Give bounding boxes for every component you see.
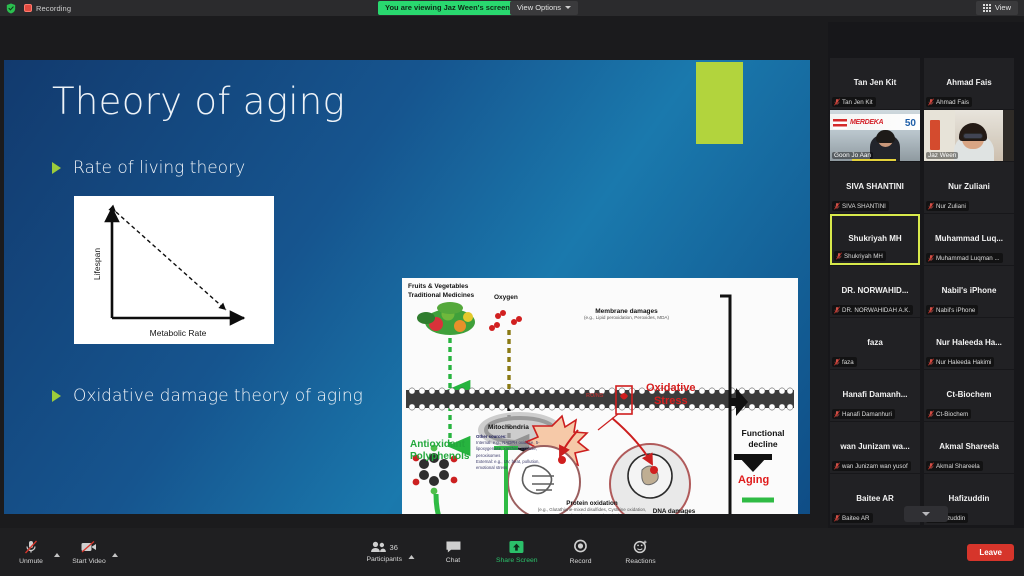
toolbar-left-group: Unmute Start Video [10, 539, 118, 565]
participant-badge-name: faza [842, 359, 854, 366]
antioxidant-line-1: Antioxidant [410, 439, 465, 450]
membrane-title: Membrane damages [595, 308, 658, 315]
fruits-line-2: Traditional Medicines [408, 292, 474, 299]
start-video-button[interactable]: Start Video [68, 539, 110, 565]
view-options-label: View Options [517, 3, 561, 12]
participant-name-badge: Ct-Biochem [926, 409, 971, 419]
room-background-right [1003, 110, 1014, 161]
functional-decline-line-2: decline [748, 439, 777, 449]
figure-label-mitochondria: Mitochondria [488, 424, 529, 431]
person-hair [876, 130, 895, 143]
participant-badge-name: wan Junizam wan yusof [842, 463, 908, 470]
video-overlay-banner: MERDEKA50 [830, 114, 920, 130]
start-video-group[interactable]: Start Video [68, 539, 118, 565]
microphone-muted-icon [834, 462, 840, 470]
participant-display-name: Akmal Shareela [924, 442, 1014, 451]
participant-name-badge: Muhammad Luqman ... [926, 253, 1003, 263]
participant-badge-name: Nur Zuliani [936, 203, 966, 210]
participant-tile[interactable]: Muhammad Luq...Muhammad Luqman ... [924, 214, 1014, 265]
panel-scroll-down-button[interactable] [904, 506, 948, 522]
figure-label-dna-damages: DNA damages (e.g., oxidation of nucleic … [614, 508, 734, 514]
presentation-slide: Theory of aging Rate of living theory [4, 60, 810, 514]
banner-text: MERDEKA [850, 119, 883, 126]
chat-label: Chat [446, 557, 460, 564]
recording-indicator[interactable]: Recording [24, 4, 71, 13]
share-screen-label: Share Screen [496, 557, 538, 564]
other-sources-internal: Internal: e.g., NADPH oxidase, 5-lipoxyg… [476, 440, 540, 457]
participant-display-name: Hanafi Damanh... [830, 390, 920, 399]
participant-tile[interactable]: wan Junizam wa...wan Junizam wan yusof [830, 422, 920, 473]
participant-name-badge: Akmal Shareela [926, 461, 983, 471]
participant-display-name: wan Junizam wa... [830, 442, 920, 451]
room-object [930, 120, 940, 150]
other-sources-title: Other sources: [476, 434, 507, 439]
toolbar-center-group: 36 Participants Chat Share Screen [362, 539, 661, 565]
reactions-icon [633, 539, 649, 555]
microphone-muted-icon [834, 514, 840, 522]
unmute-group[interactable]: Unmute [10, 539, 60, 565]
slide-title: Theory of aging [52, 80, 345, 123]
microphone-muted-icon [834, 98, 840, 106]
participant-display-name: Nur Haleeda Ha... [924, 338, 1014, 347]
participants-label: Participants [366, 556, 402, 563]
microphone-muted-icon [928, 306, 934, 314]
participant-tile[interactable]: fazafaza [830, 318, 920, 369]
record-icon [573, 539, 589, 555]
participant-badge-name: Tan Jen Kit [842, 99, 873, 106]
figure-label-oxidative-stress: Oxidative Stress [646, 382, 696, 407]
participant-name-badge: Nur Haleeda Hakimi [926, 357, 994, 367]
slide-bullet-1-text: Rate of living theory [73, 158, 245, 178]
participant-badge-name: Ahmad Fais [936, 99, 969, 106]
participant-video-feed: Jaz Ween [924, 110, 1014, 161]
antioxidant-line-2: Polyphenols [410, 451, 469, 462]
participant-display-name: Tan Jen Kit [830, 78, 920, 87]
zoom-meeting-window: Recording You are viewing Jaz Ween's scr… [0, 0, 1024, 576]
participant-display-name: SIVA SHANTINI [830, 182, 920, 191]
meeting-toolbar: Unmute Start Video [0, 528, 1024, 576]
participant-name-badge: DR. NORWAHIDAH A.K. [832, 305, 913, 315]
figure-label-antioxidant-polyphenols: Antioxidant Polyphenols [410, 439, 469, 463]
microphone-muted-icon [928, 98, 934, 106]
view-button[interactable]: View [976, 1, 1018, 15]
participant-badge-name: Hanafi Damanhuri [842, 411, 892, 418]
dna-dam-title: DNA damages [653, 508, 695, 514]
microphone-muted-icon [836, 252, 842, 260]
participant-tile[interactable]: DR. NORWAHID...DR. NORWAHIDAH A.K. [830, 266, 920, 317]
participant-badge-name: Shukriyah MH [844, 253, 883, 260]
participant-tile[interactable]: Akmal ShareelaAkmal Shareela [924, 422, 1014, 473]
participant-tile[interactable]: Nabil's iPhoneNabil's iPhone [924, 266, 1014, 317]
person-glasses [963, 133, 983, 139]
chart-svg: Lifespan Metabolic Rate [74, 196, 274, 344]
participants-button[interactable]: 36 Participants [362, 541, 406, 563]
active-speaker-strip [852, 159, 896, 161]
triangle-bullet-icon [52, 390, 61, 402]
audio-options-caret-icon[interactable] [54, 553, 60, 557]
participant-display-name: Nur Zuliani [924, 182, 1014, 191]
chevron-down-icon [565, 6, 571, 9]
shared-screen-stage: Theory of aging Rate of living theory [0, 22, 828, 528]
participant-display-name: Baitee AR [830, 494, 920, 503]
chart-ylabel: Lifespan [92, 248, 102, 280]
slide-bullet-2-text: Oxidative damage theory of aging [73, 386, 363, 406]
chart-xlabel: Metabolic Rate [150, 328, 207, 338]
microphone-muted-icon [928, 358, 934, 366]
unmute-button[interactable]: Unmute [10, 539, 52, 565]
chat-icon [445, 540, 461, 554]
microphone-muted-icon [834, 202, 840, 210]
microphone-muted-icon [928, 254, 934, 262]
functional-decline-line-1: Functional [742, 428, 785, 438]
figure-label-aging: Aging [738, 474, 769, 486]
protein-ox-title: Protein oxidation [566, 500, 617, 507]
slide-bullet-2: Oxidative damage theory of aging [52, 386, 363, 406]
participant-badge-name: Baitee AR [842, 515, 870, 522]
microphone-muted-icon [928, 410, 934, 418]
banner-number: 50 [905, 118, 916, 129]
participant-display-name: Nabil's iPhone [924, 286, 1014, 295]
participant-tile[interactable]: Ahmad FaisAhmad Fais [924, 58, 1014, 109]
recording-label: Recording [36, 4, 71, 13]
record-label: Record [570, 558, 592, 565]
oxidative-stress-line-1: Oxidative [646, 382, 696, 394]
grid-icon [983, 4, 991, 12]
figure-label-fruits: Fruits & Vegetables Traditional Medicine… [408, 283, 474, 301]
oxidative-stress-line-2: Stress [654, 395, 688, 407]
slide-accent-block [696, 62, 743, 144]
unmute-label: Unmute [19, 558, 43, 565]
participant-name-badge: Hanafi Damanhuri [832, 409, 895, 419]
microphone-muted-icon [23, 539, 39, 555]
participant-name-badge: Ahmad Fais [926, 97, 972, 107]
participant-tile[interactable]: Ct-BiochemCt-Biochem [924, 370, 1014, 421]
participant-badge-name: DR. NORWAHIDAH A.K. [842, 307, 910, 314]
figure-label-other-sources: Other sources: Internal: e.g., NADPH oxi… [476, 434, 550, 471]
participants-count: 36 [390, 543, 398, 552]
participant-name-badge: SIVA SHANTINI [832, 201, 889, 211]
participant-tile[interactable]: Jaz Ween [924, 110, 1014, 161]
participant-badge-name: Nur Haleeda Hakimi [936, 359, 991, 366]
participant-display-name: faza [830, 338, 920, 347]
figure-label-oxygen: Oxygen [494, 294, 518, 301]
participants-group[interactable]: 36 Participants [362, 541, 414, 563]
view-button-label: View [995, 3, 1011, 12]
participant-display-name: Muhammad Luq... [924, 234, 1014, 243]
participant-name-badge: Baitee AR [832, 513, 873, 523]
lifespan-metabolic-chart: Lifespan Metabolic Rate [74, 196, 274, 344]
triangle-bullet-icon [52, 162, 61, 174]
participant-name-badge: Nur Zuliani [926, 201, 969, 211]
participant-name-badge: Jaz Ween [926, 152, 958, 159]
participant-badge-name: SIVA SHANTINI [842, 203, 886, 210]
participant-tile[interactable]: SIVA SHANTINISIVA SHANTINI [830, 162, 920, 213]
share-screen-icon [509, 540, 525, 554]
participant-name-badge: Tan Jen Kit [832, 97, 876, 107]
figure-label-functional-decline: Functional decline [732, 428, 794, 449]
view-options-button[interactable]: View Options [510, 1, 578, 15]
participant-tile[interactable]: Nur Haleeda Ha...Nur Haleeda Hakimi [924, 318, 1014, 369]
microphone-muted-icon [834, 306, 840, 314]
participant-panel: Tan Jen KitTan Jen KitAhmad FaisAhmad Fa… [828, 22, 1024, 528]
participant-name-badge: Shukriyah MH [834, 251, 886, 261]
participant-display-name: Shukriyah MH [832, 234, 918, 243]
record-button[interactable]: Record [560, 539, 602, 565]
video-options-caret-icon[interactable] [112, 553, 118, 557]
oxidative-stress-figure: Fruits & Vegetables Traditional Medicine… [402, 278, 798, 514]
microphone-muted-icon [834, 410, 840, 418]
chevron-down-icon [922, 512, 930, 516]
participant-name-badge: wan Junizam wan yusof [832, 461, 911, 471]
start-video-label: Start Video [72, 558, 106, 565]
flag-icon [833, 119, 847, 129]
participant-badge-name: Ct-Biochem [936, 411, 968, 418]
leave-button[interactable]: Leave [967, 544, 1014, 561]
participants-caret-icon[interactable] [408, 555, 414, 559]
fruits-line-1: Fruits & Vegetables [408, 283, 468, 290]
reactions-label: Reactions [625, 558, 655, 565]
participants-icon [371, 541, 387, 553]
participant-tile[interactable]: Hanafi Damanh...Hanafi Damanhuri [830, 370, 920, 421]
share-screen-button[interactable]: Share Screen [492, 540, 542, 564]
participant-badge-name: Nabil's iPhone [936, 307, 975, 314]
participant-name-badge: faza [832, 357, 857, 367]
reactions-button[interactable]: Reactions [620, 539, 662, 565]
participant-display-name: Ahmad Fais [924, 78, 1014, 87]
participant-tile[interactable]: Tan Jen KitTan Jen Kit [830, 58, 920, 109]
participant-name-badge: Goon Jo Aan [832, 152, 873, 159]
microphone-muted-icon [928, 202, 934, 210]
microphone-muted-icon [928, 462, 934, 470]
figure-label-rons: RO/NS [586, 393, 603, 399]
top-bar: Recording You are viewing Jaz Ween's scr… [0, 0, 1024, 16]
participant-name-badge: Nabil's iPhone [926, 305, 978, 315]
figure-label-membrane-damages: Membrane damages (e.g., Lipid peroxidati… [584, 308, 669, 320]
other-sources-external: External: e.g., UV, heat, pollution, emo… [476, 459, 540, 470]
chat-button[interactable]: Chat [432, 540, 474, 564]
viewing-screen-banner: You are viewing Jaz Ween's screen [378, 1, 517, 15]
microphone-muted-icon [834, 358, 840, 366]
slide-bullet-1: Rate of living theory [52, 158, 245, 178]
participant-display-name: Ct-Biochem [924, 390, 1014, 399]
participant-tile[interactable]: Nur ZulianiNur Zuliani [924, 162, 1014, 213]
participant-video-feed: MERDEKA50Goon Jo Aan [830, 110, 920, 161]
shield-icon[interactable] [6, 3, 16, 14]
participant-badge-name: Muhammad Luqman ... [936, 255, 1000, 262]
membrane-sub: (e.g., Lipid peroxidation, Peroxides, MD… [584, 315, 669, 320]
camera-muted-icon [80, 539, 98, 555]
recording-dot-icon [24, 4, 32, 12]
participant-display-name: Hafizuddin [924, 494, 1014, 503]
participant-tile[interactable]: MERDEKA50Goon Jo Aan [830, 110, 920, 161]
participant-tile[interactable]: Shukriyah MHShukriyah MH [830, 214, 920, 265]
participant-badge-name: Akmal Shareela [936, 463, 980, 470]
participant-display-name: DR. NORWAHID... [830, 286, 920, 295]
